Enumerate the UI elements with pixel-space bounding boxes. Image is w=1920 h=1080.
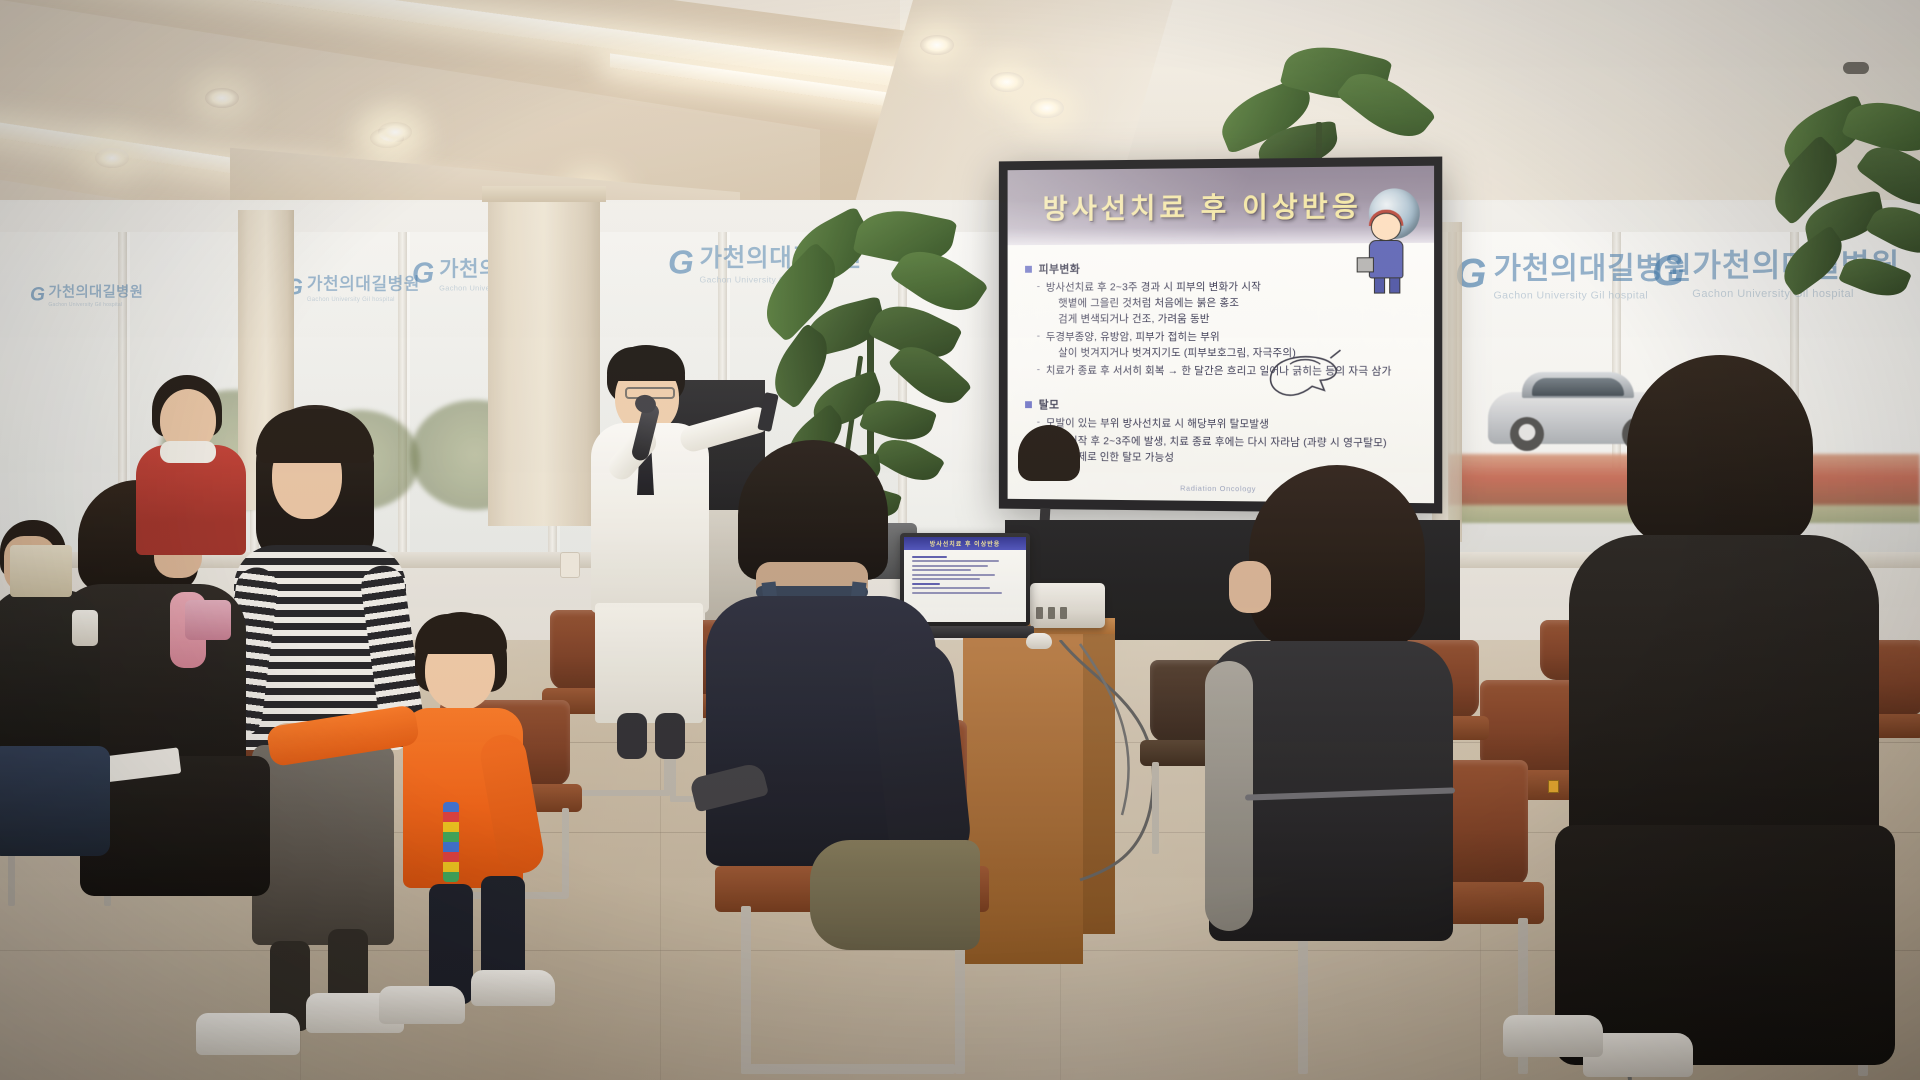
downlight-icon (205, 88, 239, 108)
slide-sub-bullet: 검게 변색되거나 건조, 가려움 동반 (1058, 312, 1420, 327)
person-seated-woman-right (1215, 465, 1505, 1025)
presenter-fringe (607, 347, 685, 381)
slide-sub-bullet-text: 검게 변색되거나 건조, 가려움 동반 (1058, 313, 1209, 325)
child-shoe (379, 986, 465, 1024)
child-shoe (471, 970, 555, 1006)
gil-hospital-logo-icon: G (668, 242, 692, 281)
far-right-shoe (1503, 1015, 1603, 1057)
slide-sub-bullet-text: 살이 벗겨지거나 벗겨지기도 (피부보호그림, 자극주의) (1058, 346, 1420, 361)
person-seated-man (700, 440, 990, 1000)
person-background-head (1018, 425, 1088, 505)
seated-man-hair (738, 440, 888, 580)
elder-red-collar (160, 441, 216, 463)
person-child (395, 612, 595, 1080)
child-toy (443, 802, 459, 882)
far-right-hair (1627, 355, 1813, 545)
person-elder-left-red (130, 375, 260, 555)
hospital-name-en: Gachon University Gil hospital (307, 296, 420, 303)
slide-bullet-text: 두경부종양, 유방암, 피부가 접히는 부위 (1046, 330, 1220, 345)
pink-handbag-prop (185, 600, 231, 640)
slide-bullet: - 두경부종양, 유방암, 피부가 접히는 부위 (1037, 330, 1420, 345)
bullet-dash-icon: - (1037, 330, 1040, 345)
hospital-name-kr: 가천의대길병원 (307, 270, 420, 295)
water-bottle-prop (72, 610, 98, 646)
bullet-dash-icon: - (1037, 364, 1040, 379)
power-outlet-icon (560, 552, 580, 578)
slide-bullet-text: 방사선치료 후 2~3주 경과 시 피부의 변화가 시작 (1046, 280, 1261, 296)
car-wheel (1510, 417, 1544, 451)
gil-hospital-logo-icon: G (412, 255, 433, 288)
slide-section-heading: 탈모 (1025, 396, 1420, 414)
hospital-name-en: Gachon University Gil hospital (48, 301, 143, 307)
child-fringe (415, 614, 507, 654)
downlight-icon (990, 72, 1024, 92)
downlight-icon (1030, 98, 1064, 118)
slide-bullet: - 모발이 있는 부위 방사선치료 시 해당부위 탈모발생 (1037, 416, 1420, 433)
gil-hospital-logo-icon: G (1652, 245, 1683, 295)
hairloss-clipart-icon (1260, 346, 1347, 409)
slide-bullet-text: 햇볕에 그을린 것처럼 처음에는 붉은 홍조 (1058, 296, 1420, 312)
projector (1030, 583, 1105, 628)
slide-heading-text: 피부변화 (1039, 261, 1080, 277)
indoor-plant-right (1760, 100, 1920, 350)
paper-bag-prop (10, 545, 72, 597)
hospital-sign: G 가천의대길병원 Gachon University Gil hospital (30, 280, 143, 307)
downlight-icon (378, 122, 412, 142)
gil-hospital-logo-icon: G (30, 282, 44, 305)
far-right-coat (1569, 535, 1879, 865)
bullet-square-icon (1025, 265, 1032, 272)
nurse-clipart-icon (1357, 212, 1420, 295)
lecture-scene-photo: G 가천의대길병원 Gachon University Gil hospital… (0, 0, 1920, 1080)
ceiling (0, 0, 1920, 215)
smoke-detector-icon (1843, 62, 1869, 74)
standing-woman-shoe (196, 1013, 300, 1055)
slide-title: 방사선치료 후 이상반응 (1043, 185, 1362, 228)
downlight-icon (95, 148, 129, 168)
projector-vent (1060, 607, 1067, 619)
presenter-leg (617, 713, 647, 759)
seated-woman-face-profile (1229, 561, 1271, 613)
seated-woman-hair (1249, 465, 1425, 650)
structural-column (488, 196, 600, 526)
column-capital (482, 186, 606, 202)
hospital-name-kr: 가천의대길병원 (48, 280, 143, 301)
slide-bullet: - 치료가 종료 후 서서히 회복 → 한 달간은 흐리고 일어나 긁히는 등의… (1037, 364, 1420, 380)
slide-bullet: - 치료 시작 후 2~3주에 발생, 치료 종료 후에는 다시 자라남 (과량… (1037, 434, 1420, 452)
far-right-lower-body (1555, 825, 1895, 1065)
standing-woman-fringe (256, 409, 374, 463)
bullet-dash-icon: - (1037, 281, 1040, 296)
far-left-lap (0, 746, 110, 856)
background-head-hair (1018, 425, 1080, 481)
downlight-icon (920, 35, 954, 55)
hospital-sign: G 가천의대길병원 Gachon University Gil hospital (285, 270, 420, 303)
slide-heading-text: 탈모 (1039, 396, 1060, 412)
presenter-leg (655, 713, 685, 759)
seated-man-trousers (810, 840, 980, 950)
bullet-square-icon (1025, 401, 1032, 408)
projector-vent (1048, 607, 1055, 619)
projector-vent (1036, 607, 1043, 619)
slide-bullet-text: 치료 시작 후 2~3주에 발생, 치료 종료 후에는 다시 자라남 (과량 시… (1046, 434, 1387, 451)
person-seated-woman-far-right (1565, 355, 1905, 1075)
presenter-coat-hem (595, 603, 703, 723)
